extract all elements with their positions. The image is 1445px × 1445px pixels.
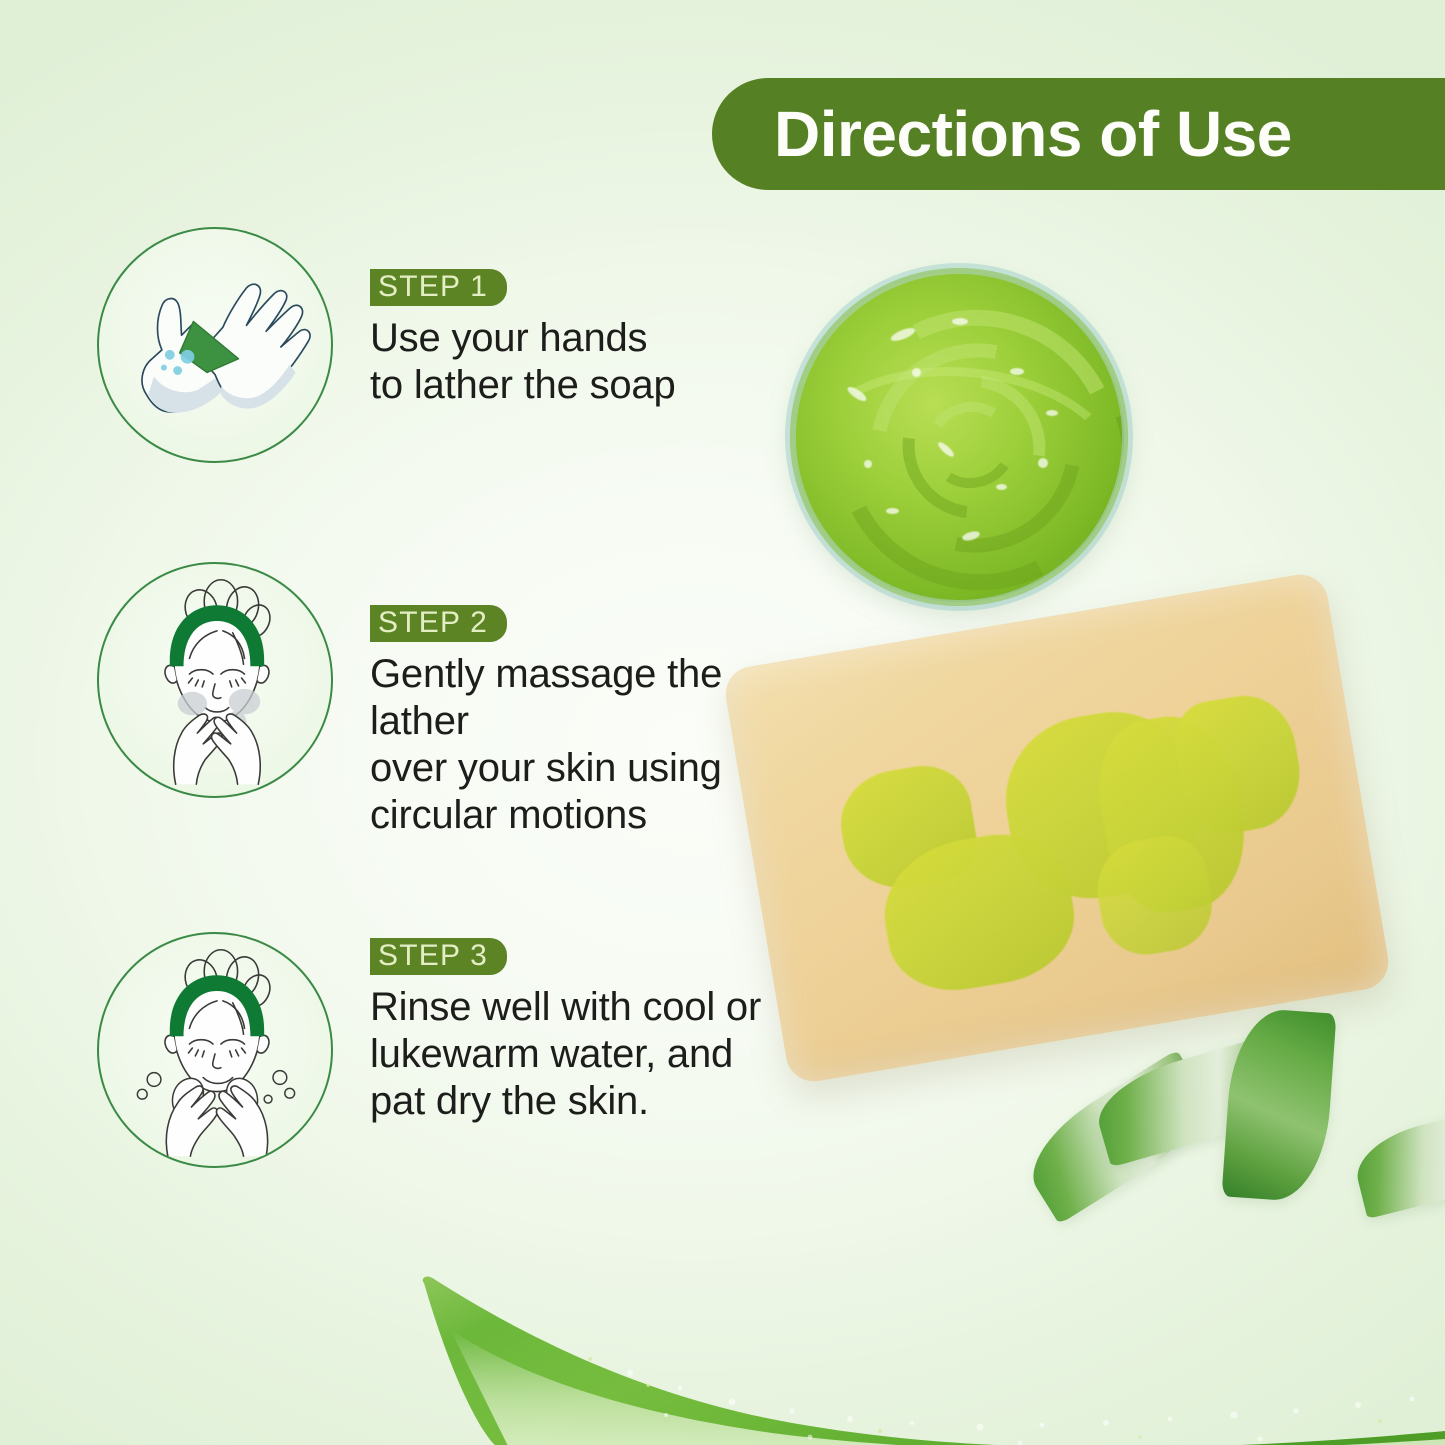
face-rinse-bubbles-icon — [97, 932, 333, 1168]
step-3-text-block: STEP 3 Rinse well with cool or lukewarm … — [370, 938, 761, 1125]
directions-of-use-infographic: Directions of Use — [0, 0, 1445, 1445]
header-banner: Directions of Use — [712, 78, 1445, 190]
aloe-soap-bar-photo — [722, 571, 1393, 1086]
step-2-badge: STEP 2 — [370, 605, 507, 642]
step-1-text-block: STEP 1 Use your hands to lather the soap — [370, 269, 676, 409]
hands-lathering-soap-icon — [97, 227, 333, 463]
aloe-vera-leaf-photo — [380, 1255, 1445, 1445]
step-3-badge: STEP 3 — [370, 938, 507, 975]
aloe-slice-4 — [1349, 1107, 1445, 1219]
step-1-badge: STEP 1 — [370, 269, 507, 306]
face-massage-icon — [97, 562, 333, 798]
page-title: Directions of Use — [774, 102, 1292, 166]
step-3-description: Rinse well with cool or lukewarm water, … — [370, 984, 761, 1125]
step-1-description: Use your hands to lather the soap — [370, 315, 676, 409]
aloe-gel-bowl-photo — [790, 268, 1128, 606]
aloe-slice-3 — [1221, 1007, 1336, 1204]
